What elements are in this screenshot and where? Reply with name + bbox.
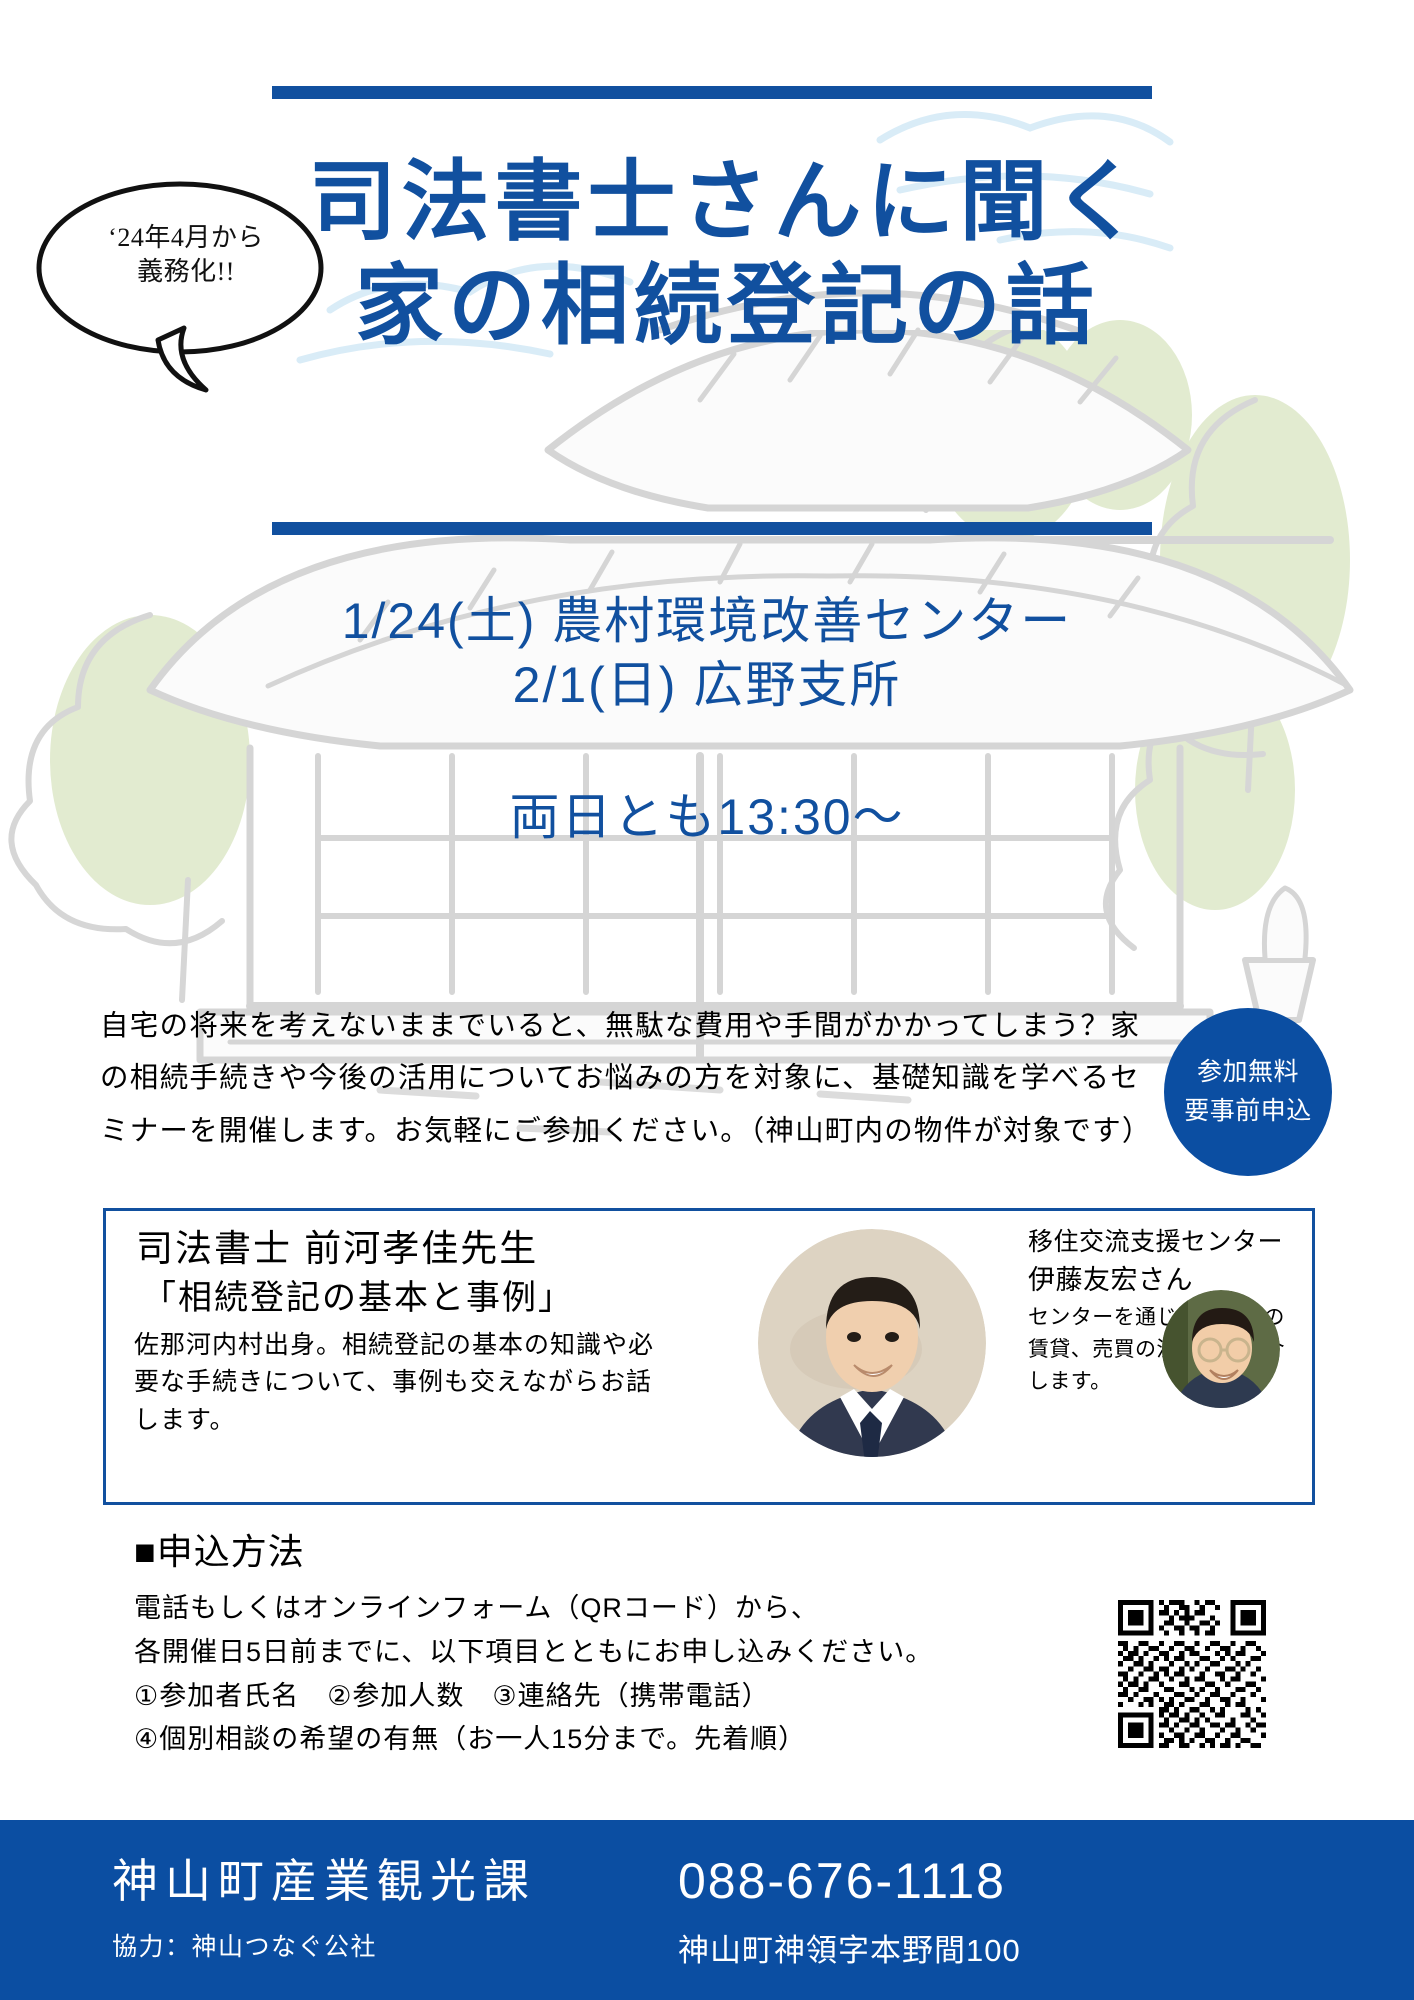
obligation-callout: ‘24年4月から 義務化!!	[30, 175, 340, 400]
footer-right: 088-676-1118 神山町神領字本野間100	[678, 1852, 1021, 1970]
main-speaker-photo	[758, 1229, 986, 1457]
schedule-time: 両日とも13:30〜	[0, 777, 1414, 849]
application-line-1: 電話もしくはオンラインフォーム（QRコード）から、	[134, 1587, 933, 1631]
schedule-block: 1/24(土) 農村環境改善センター 2/1(日) 広野支所 両日とも13:30…	[0, 590, 1414, 849]
title-rule-bottom	[272, 522, 1152, 535]
speakers-panel: 司法書士 前河孝佳先生 「相続登記の基本と事例」 佐那河内村出身。相続登記の基本…	[103, 1208, 1315, 1505]
callout-line-1: ‘24年4月から	[86, 221, 286, 255]
intro-paragraph: 自宅の将来を考えないままでいると、無駄な費用や手間がかかってしまう？家の相続手続…	[100, 1000, 1140, 1157]
footer-address: 神山町神領字本野間100	[678, 1925, 1021, 1970]
portrait-main-illustration	[758, 1229, 986, 1457]
main-speaker-block: 司法書士 前河孝佳先生 「相続登記の基本と事例」 佐那河内村出身。相続登記の基本…	[128, 1225, 658, 1439]
footer-telephone[interactable]: 088-676-1118	[678, 1852, 1021, 1911]
callout-line-2: 義務化!!	[86, 255, 286, 289]
main-speaker-desc: 佐那河内村出身。相続登記の基本の知識や必要な手続きについて、事例も交えながらお話…	[128, 1327, 658, 1440]
sub-speaker-name: 伊藤友宏さん	[1028, 1262, 1296, 1298]
application-line-4: ④個別相談の希望の有無（お一人15分まで。先着順）	[134, 1718, 933, 1762]
fee-badge: 参加無料 要事前申込	[1164, 1008, 1332, 1176]
schedule-date-2: 2/1(日) 広野支所	[0, 654, 1414, 718]
sub-speaker-org: 移住交流支援センター	[1028, 1225, 1296, 1260]
footer-left: 神山町産業観光課 協力：神山つなぐ公社	[112, 1854, 536, 1963]
application-heading: ■申込方法	[134, 1530, 933, 1573]
sub-speaker-photo	[1162, 1290, 1280, 1408]
callout-text: ‘24年4月から 義務化!!	[86, 221, 286, 290]
poster-root: ‘24年4月から 義務化!! 司法書士さんに聞く 家の相続登記の話 1/24(土…	[0, 0, 1414, 2000]
portrait-sub-illustration	[1162, 1290, 1280, 1408]
footer-bar: 神山町産業観光課 協力：神山つなぐ公社 088-676-1118 神山町神領字本…	[0, 1820, 1414, 2000]
qr-code-icon[interactable]	[1118, 1600, 1266, 1748]
footer-organization: 神山町産業観光課	[112, 1854, 536, 1909]
application-lines: 電話もしくはオンラインフォーム（QRコード）から、 各開催日5日前までに、以下項…	[134, 1587, 933, 1762]
application-section: ■申込方法 電話もしくはオンラインフォーム（QRコード）から、 各開催日5日前ま…	[134, 1530, 933, 1762]
fee-badge-line-1: 参加無料	[1197, 1053, 1299, 1092]
application-line-3: ①参加者氏名 ②参加人数 ③連絡先（携帯電話）	[134, 1675, 933, 1719]
main-speaker-name: 司法書士 前河孝佳先生	[128, 1225, 658, 1273]
schedule-date-1: 1/24(土) 農村環境改善センター	[0, 590, 1414, 654]
footer-cooperation: 協力：神山つなぐ公社	[112, 1927, 536, 1963]
fee-badge-line-2: 要事前申込	[1184, 1092, 1312, 1131]
title-rule-top	[272, 86, 1152, 99]
application-line-2: 各開催日5日前までに、以下項目とともにお申し込みください。	[134, 1631, 933, 1675]
qr-code[interactable]	[1118, 1600, 1266, 1748]
main-speaker-topic: 「相続登記の基本と事例」	[128, 1276, 658, 1321]
